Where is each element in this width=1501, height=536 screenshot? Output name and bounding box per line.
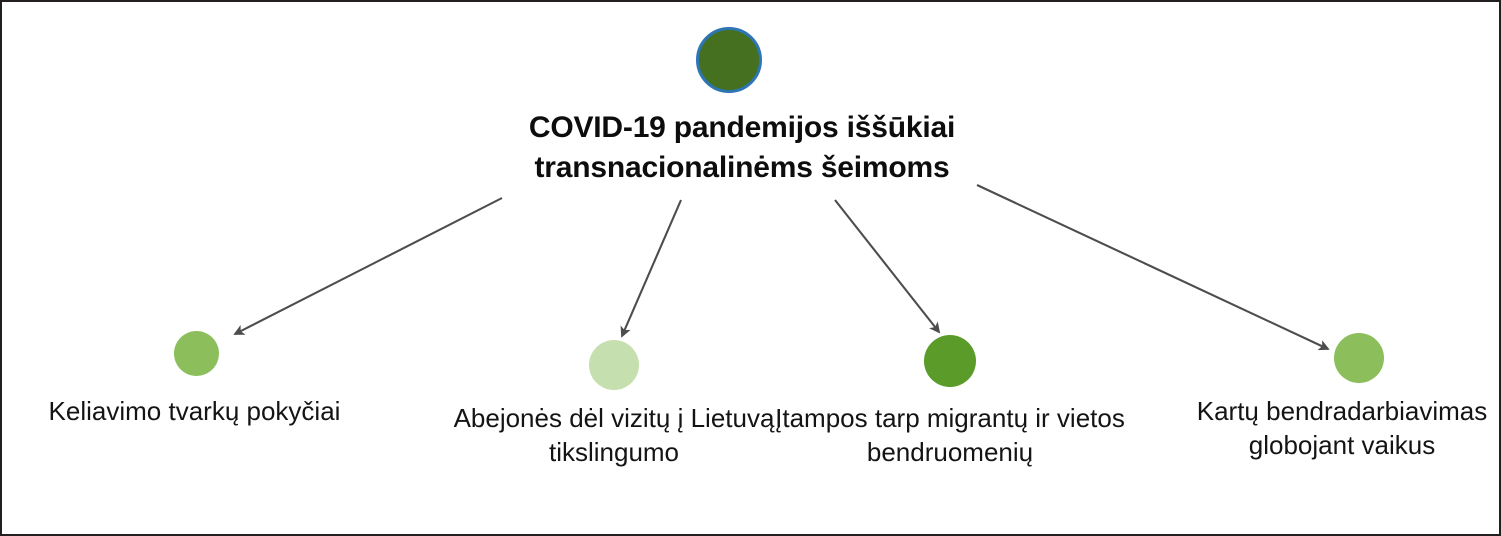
diagram-canvas: COVID-19 pandemijos iššūkiai transnacion… — [0, 0, 1501, 536]
page-title: COVID-19 pandemijos iššūkiai transnacion… — [422, 108, 1062, 188]
leaf-node-marker-tensions[interactable] — [924, 335, 976, 387]
edge-root-to-travel — [235, 198, 502, 334]
edge-root-to-childcare — [977, 185, 1328, 349]
leaf-node-label-travel: Keliavimo tvarkų pokyčiai — [2, 395, 387, 429]
leaf-node-marker-childcare[interactable] — [1334, 333, 1384, 383]
leaf-node-marker-travel[interactable] — [174, 331, 219, 376]
leaf-node-label-visits: Abejonės dėl vizitų į Lietuvą tikslingum… — [439, 402, 789, 470]
edge-root-to-tensions — [835, 200, 939, 332]
leaf-node-label-tensions: Įtampos tarp migrantų ir vietos bendruom… — [775, 402, 1125, 470]
leaf-node-label-childcare: Kartų bendradarbiavimas globojant vaikus — [1182, 395, 1501, 463]
leaf-node-marker-visits[interactable] — [589, 340, 639, 390]
edge-root-to-visits — [622, 200, 681, 336]
root-node-marker[interactable] — [696, 27, 762, 93]
